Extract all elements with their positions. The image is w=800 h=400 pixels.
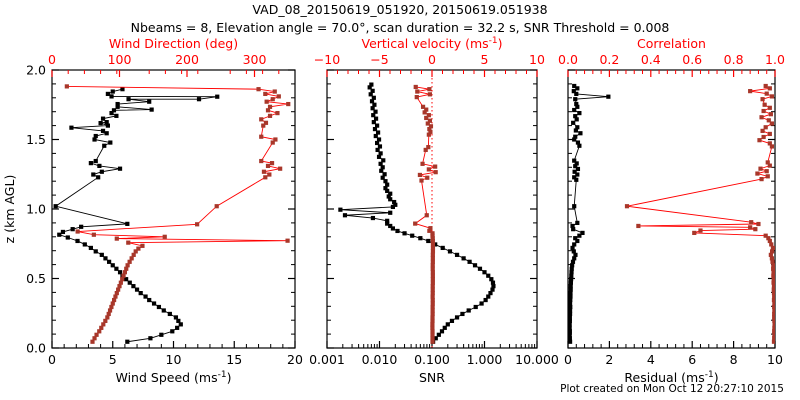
data-point xyxy=(572,84,576,88)
data-point xyxy=(419,178,423,182)
data-point xyxy=(478,267,482,271)
data-point xyxy=(105,131,109,135)
data-point xyxy=(105,120,109,124)
data-point xyxy=(486,274,490,278)
vad-profile-figure: VAD_08_20150619_051920, 20150619.051938 … xyxy=(0,0,800,400)
x-top-axis-label-2: Vertical velocity (ms-1) xyxy=(361,36,502,51)
data-point xyxy=(573,236,577,240)
data-point xyxy=(152,301,156,305)
data-point xyxy=(418,173,422,177)
data-point xyxy=(574,102,578,106)
data-point xyxy=(71,227,75,231)
data-point xyxy=(698,228,702,232)
data-point xyxy=(760,97,764,101)
x-tick-label-4: 20 xyxy=(287,352,303,367)
data-point xyxy=(131,284,135,288)
data-point xyxy=(139,291,143,295)
data-point xyxy=(271,97,275,101)
data-point xyxy=(76,229,80,233)
data-point xyxy=(147,100,151,104)
data-point xyxy=(753,227,757,231)
data-point xyxy=(426,145,430,149)
data-point xyxy=(265,100,269,104)
data-point xyxy=(467,308,471,312)
data-point xyxy=(69,126,73,130)
data-point xyxy=(111,263,115,267)
y-tick-label-2: 1.0 xyxy=(26,202,46,217)
data-point xyxy=(768,86,772,90)
data-point xyxy=(89,246,93,250)
data-point xyxy=(759,115,763,119)
data-point xyxy=(54,204,58,208)
data-point xyxy=(433,165,437,169)
data-point xyxy=(197,97,201,101)
x-tick-label-0: 0 xyxy=(48,352,56,367)
data-point xyxy=(174,315,178,319)
data-point xyxy=(125,340,129,344)
data-point xyxy=(572,159,576,163)
data-point xyxy=(455,315,459,319)
x-tick-label-2: 0.100 xyxy=(414,352,450,367)
data-point xyxy=(136,247,140,251)
data-point xyxy=(135,288,139,292)
x-tick-label-2: 4 xyxy=(647,352,655,367)
data-point xyxy=(343,213,347,217)
x-top-tick-label-3: 300 xyxy=(243,52,267,67)
data-point xyxy=(215,204,219,208)
data-point xyxy=(89,161,93,165)
data-point xyxy=(263,175,267,179)
data-point xyxy=(757,138,761,142)
data-point xyxy=(175,326,179,330)
data-point xyxy=(99,121,103,125)
x-top-tick-label-1: 0.2 xyxy=(599,52,619,67)
data-point xyxy=(428,119,432,123)
data-point xyxy=(762,109,766,113)
x-axis-label-1: Wind Speed (ms-1) xyxy=(116,370,232,385)
data-point xyxy=(75,239,79,243)
data-point xyxy=(262,170,266,174)
x-top-tick-label-4: 0.8 xyxy=(724,52,744,67)
data-point xyxy=(402,231,406,235)
data-point xyxy=(425,213,429,217)
y-tick-label-0: 0.0 xyxy=(26,341,46,356)
data-point xyxy=(606,95,610,99)
data-point xyxy=(625,204,629,208)
data-point xyxy=(259,159,263,163)
data-point xyxy=(268,114,272,118)
data-point xyxy=(264,121,268,125)
data-point xyxy=(770,94,774,98)
data-point xyxy=(147,298,151,302)
data-point xyxy=(764,234,768,238)
data-point xyxy=(448,249,452,253)
data-point xyxy=(765,92,769,96)
data-point xyxy=(467,260,471,264)
data-point xyxy=(273,137,277,141)
data-point xyxy=(277,94,281,98)
data-point xyxy=(577,111,581,115)
data-point xyxy=(97,164,101,168)
data-point xyxy=(65,84,69,88)
data-point xyxy=(415,89,419,93)
data-point xyxy=(764,125,768,129)
x-axis-label-2: SNR xyxy=(419,370,445,385)
data-point xyxy=(748,225,752,229)
data-point xyxy=(381,158,385,162)
x-tick-label-4: 10.000 xyxy=(515,352,559,367)
data-point xyxy=(94,159,98,163)
data-point xyxy=(159,333,163,337)
data-point xyxy=(108,140,112,144)
data-point xyxy=(760,129,764,133)
data-point xyxy=(101,129,105,133)
data-point xyxy=(94,249,98,253)
data-point xyxy=(118,167,122,171)
y-tick-label-4: 2.0 xyxy=(26,63,46,78)
data-point xyxy=(128,281,132,285)
x-top-tick-label-3: 0.6 xyxy=(682,52,702,67)
data-point xyxy=(96,175,100,179)
data-point xyxy=(426,239,430,243)
data-point xyxy=(421,105,425,109)
data-point xyxy=(100,170,104,174)
plot-canvas: VAD_08_20150619_051920, 20150619.051938 … xyxy=(0,0,800,400)
data-point xyxy=(256,87,260,91)
data-point xyxy=(427,113,431,117)
data-point xyxy=(115,237,119,241)
data-point xyxy=(474,305,478,309)
data-point xyxy=(755,171,759,175)
data-point xyxy=(369,82,373,86)
data-point xyxy=(168,312,172,316)
data-point xyxy=(414,85,418,89)
data-point xyxy=(94,134,98,138)
data-point xyxy=(767,118,771,122)
data-point xyxy=(446,322,450,326)
data-point xyxy=(462,256,466,260)
data-point xyxy=(578,131,582,135)
data-point xyxy=(427,167,431,171)
data-point xyxy=(100,253,104,257)
data-point xyxy=(101,117,105,121)
data-point xyxy=(425,176,429,180)
data-point xyxy=(748,89,752,93)
data-point xyxy=(267,172,271,176)
data-point xyxy=(338,208,342,212)
data-point xyxy=(102,144,106,148)
data-point xyxy=(572,204,576,208)
data-point xyxy=(215,95,219,99)
x-tick-label-0: 0.001 xyxy=(309,352,345,367)
x-tick-label-0: 0 xyxy=(564,352,572,367)
data-point xyxy=(395,229,399,233)
data-point xyxy=(460,312,464,316)
data-point xyxy=(482,270,486,274)
data-point xyxy=(107,260,111,264)
data-point xyxy=(195,222,199,226)
x-top-tick-label-2: 0.4 xyxy=(641,52,661,67)
x-axis-label-3: Residual (ms-1) xyxy=(624,370,718,385)
figure-subtitle: Nbeams = 8, Elevation angle = 70.0°, sca… xyxy=(131,20,670,35)
data-point xyxy=(441,246,445,250)
data-point xyxy=(758,167,762,171)
data-point xyxy=(268,105,272,109)
data-point xyxy=(576,140,580,144)
data-point xyxy=(66,235,70,239)
x-top-tick-label-0: −10 xyxy=(314,52,340,67)
x-tick-label-1: 5 xyxy=(109,352,117,367)
data-point xyxy=(420,162,424,166)
data-point xyxy=(111,89,115,93)
data-point xyxy=(450,319,454,323)
data-point xyxy=(116,102,120,106)
data-point xyxy=(125,222,129,226)
data-point xyxy=(263,92,267,96)
data-point xyxy=(765,169,769,173)
data-point xyxy=(79,225,83,229)
data-point xyxy=(473,263,477,267)
data-point xyxy=(759,177,763,181)
data-point xyxy=(112,108,116,112)
data-point xyxy=(273,89,277,93)
data-point xyxy=(479,301,483,305)
data-point xyxy=(140,244,144,248)
data-point xyxy=(427,87,431,91)
x-tick-label-3: 15 xyxy=(226,352,242,367)
data-point xyxy=(413,222,417,226)
data-point xyxy=(170,329,174,333)
y-tick-label-1: 0.5 xyxy=(26,271,46,286)
data-point xyxy=(285,239,289,243)
x-top-tick-label-0: 0.0 xyxy=(558,52,578,67)
data-point xyxy=(768,141,772,145)
data-point xyxy=(114,267,118,271)
data-point xyxy=(275,111,279,115)
data-point xyxy=(266,164,270,168)
data-point xyxy=(120,87,124,91)
x-tick-label-2: 10 xyxy=(166,352,182,367)
x-top-tick-label-2: 200 xyxy=(175,52,199,67)
figure-title: VAD_08_20150619_051920, 20150619.051938 xyxy=(252,2,547,17)
x-tick-label-1: 2 xyxy=(605,352,613,367)
data-point xyxy=(575,221,579,225)
data-point xyxy=(83,242,87,246)
data-point xyxy=(163,235,167,239)
data-point xyxy=(126,241,130,245)
x-top-tick-label-0: 0 xyxy=(48,52,56,67)
x-tick-label-4: 8 xyxy=(730,352,738,367)
data-point xyxy=(157,305,161,309)
data-point xyxy=(763,103,767,107)
data-point xyxy=(106,92,110,96)
data-point xyxy=(143,294,147,298)
data-point xyxy=(762,135,766,139)
data-point xyxy=(126,97,130,101)
x-top-tick-label-4: 10 xyxy=(529,52,545,67)
data-point xyxy=(270,161,274,165)
x-top-tick-label-1: 100 xyxy=(108,52,132,67)
data-point xyxy=(428,92,432,96)
data-point xyxy=(573,114,577,118)
data-point xyxy=(415,95,419,99)
x-tick-label-3: 6 xyxy=(688,352,696,367)
data-point xyxy=(259,117,263,121)
data-point xyxy=(388,211,392,215)
data-point xyxy=(385,219,389,223)
x-tick-label-3: 1.000 xyxy=(467,352,503,367)
data-point xyxy=(768,106,772,110)
y-tick-label-3: 1.5 xyxy=(26,132,46,147)
data-point xyxy=(278,167,282,171)
data-point xyxy=(764,84,768,88)
x-top-tick-label-3: 5 xyxy=(481,52,489,67)
data-point xyxy=(769,112,773,116)
data-point xyxy=(434,170,438,174)
data-point xyxy=(418,236,422,240)
data-point xyxy=(573,97,577,101)
x-top-tick-label-1: −5 xyxy=(370,52,388,67)
x-tick-label-1: 0.010 xyxy=(362,352,398,367)
data-point xyxy=(259,135,263,139)
data-point xyxy=(91,172,95,176)
data-point xyxy=(92,233,96,237)
data-point xyxy=(573,135,577,139)
data-point xyxy=(114,114,118,118)
data-point xyxy=(109,94,113,98)
data-point xyxy=(148,336,152,340)
data-point xyxy=(636,224,640,228)
data-point xyxy=(455,253,459,257)
data-point xyxy=(57,233,61,237)
data-point xyxy=(575,125,579,129)
data-point xyxy=(150,108,154,112)
data-point xyxy=(766,174,770,178)
data-point xyxy=(392,200,396,204)
data-point xyxy=(580,231,584,235)
x-top-axis-label-1: Wind Direction (deg) xyxy=(109,36,238,51)
data-point xyxy=(103,256,107,260)
x-top-tick-label-5: 1.0 xyxy=(765,52,785,67)
data-point xyxy=(692,231,696,235)
data-point xyxy=(570,224,574,228)
data-point xyxy=(749,220,753,224)
data-point xyxy=(61,230,65,234)
y-axis-label: z (km AGL) xyxy=(2,175,17,244)
data-point xyxy=(410,234,414,238)
x-tick-label-5: 10 xyxy=(767,352,783,367)
data-point xyxy=(428,226,432,230)
data-point xyxy=(756,222,760,226)
data-point xyxy=(162,308,166,312)
data-point xyxy=(768,132,772,136)
x-top-tick-label-2: 0 xyxy=(428,52,436,67)
data-point xyxy=(766,160,770,164)
data-point xyxy=(371,216,375,220)
data-point xyxy=(286,102,290,106)
x-top-axis-label-3: Correlation xyxy=(637,36,706,51)
